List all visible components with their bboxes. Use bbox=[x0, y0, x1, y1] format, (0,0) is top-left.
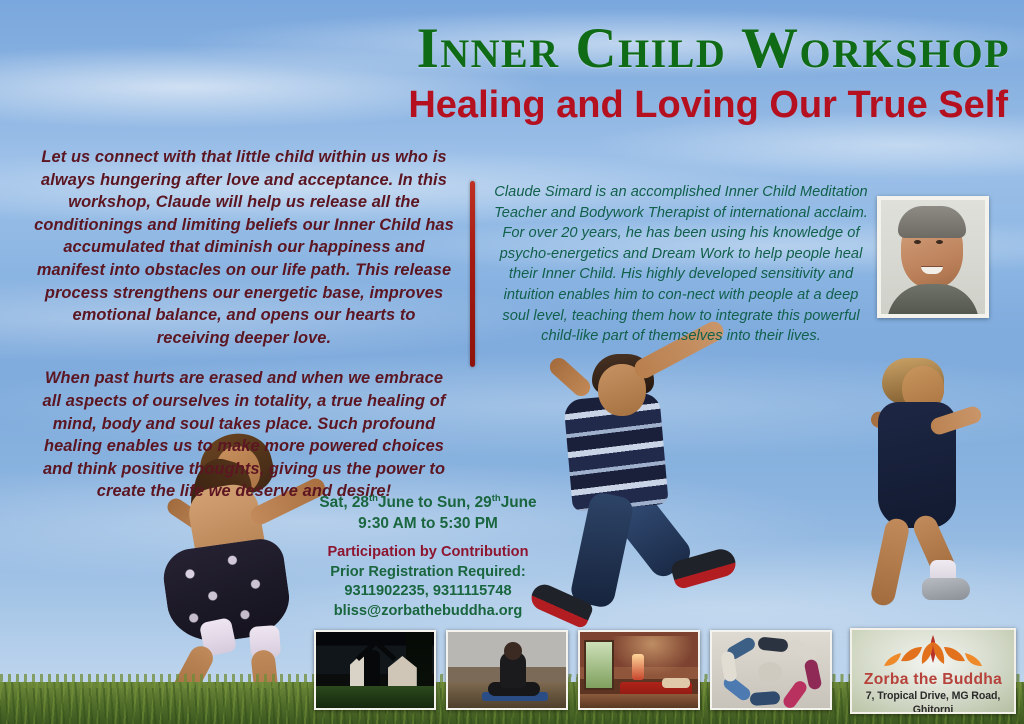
portrait-smile bbox=[921, 266, 943, 274]
portrait-eye-right bbox=[936, 240, 943, 244]
portrait-eye-left bbox=[914, 240, 921, 244]
presenter-bio: Claude Simard is an accomplished Inner C… bbox=[492, 182, 870, 347]
contact-email[interactable]: bliss@zorbathebuddha.org bbox=[300, 602, 556, 622]
venue-address: 7, Tropical Drive, MG Road, Ghitorni bbox=[852, 689, 1014, 714]
thumb3-pillow bbox=[662, 678, 690, 688]
schedule-dates: Sat, 28thJune to Sun, 29thJune bbox=[300, 488, 556, 513]
thumb4-person-6 bbox=[750, 691, 781, 706]
thumb4-person-5 bbox=[781, 679, 809, 710]
participation-contribution: Participation by Contribution bbox=[300, 543, 556, 563]
thumb3-lamp bbox=[632, 654, 644, 680]
girl-jumping-leg-back bbox=[869, 516, 911, 607]
schedule-block: Sat, 28thJune to Sun, 29thJune 9:30 AM t… bbox=[300, 488, 556, 534]
portrait-image bbox=[881, 200, 985, 314]
photo-silhouette-house bbox=[314, 630, 436, 710]
presenter-portrait bbox=[877, 196, 989, 318]
boy-jumping-photo bbox=[524, 346, 742, 634]
registration-block: Participation by Contribution Prior Regi… bbox=[300, 543, 556, 621]
page-subtitle: Healing and Loving Our True Self bbox=[0, 84, 1008, 127]
venue-logo-badge: Zorba the Buddha 7, Tropical Drive, MG R… bbox=[850, 628, 1016, 714]
schedule-ordinal-2: th bbox=[492, 493, 501, 504]
photo-room-interior bbox=[578, 630, 700, 710]
intro-paragraph-2: When past hurts are erased and when we e… bbox=[34, 367, 454, 503]
girl-jumping-shoe bbox=[922, 578, 970, 600]
thumb3-floor bbox=[580, 694, 698, 708]
schedule-dates-prefix: Sat, 28 bbox=[319, 494, 369, 511]
photo-meditation bbox=[446, 630, 568, 710]
poster-canvas: Inner Child Workshop Healing and Loving … bbox=[0, 0, 1024, 724]
schedule-time: 9:30 AM to 5:30 PM bbox=[300, 513, 556, 534]
thumb2-head bbox=[504, 642, 522, 660]
schedule-dates-suffix: June bbox=[501, 494, 537, 511]
thumb4-person-2 bbox=[757, 636, 788, 652]
photo-group-circle bbox=[710, 630, 832, 710]
prior-registration-note: Prior Registration Required: bbox=[300, 563, 556, 583]
page-title: Inner Child Workshop bbox=[0, 16, 1010, 81]
vertical-divider bbox=[470, 181, 475, 367]
photo-strip bbox=[314, 630, 832, 710]
lotus-flame-icon bbox=[852, 633, 1014, 671]
girl-jumping-photo bbox=[848, 356, 1010, 608]
thumb3-ceiling-glow bbox=[610, 636, 694, 676]
venue-name: Zorba the Buddha bbox=[852, 671, 1014, 689]
intro-copy: Let us connect with that little child wi… bbox=[34, 146, 454, 503]
schedule-ordinal-1: th bbox=[369, 493, 378, 504]
boy-jumping-back-arm bbox=[546, 354, 594, 399]
contact-phone-numbers[interactable]: 9311902235, 9311115748 bbox=[300, 582, 556, 602]
thumb1-lawn bbox=[316, 686, 434, 708]
portrait-hair bbox=[898, 206, 966, 238]
thumb4-circle-center bbox=[758, 662, 782, 682]
thumb3-window bbox=[584, 640, 614, 690]
intro-paragraph-1: Let us connect with that little child wi… bbox=[34, 146, 454, 349]
schedule-dates-mid: June to Sun, 29 bbox=[378, 494, 492, 511]
